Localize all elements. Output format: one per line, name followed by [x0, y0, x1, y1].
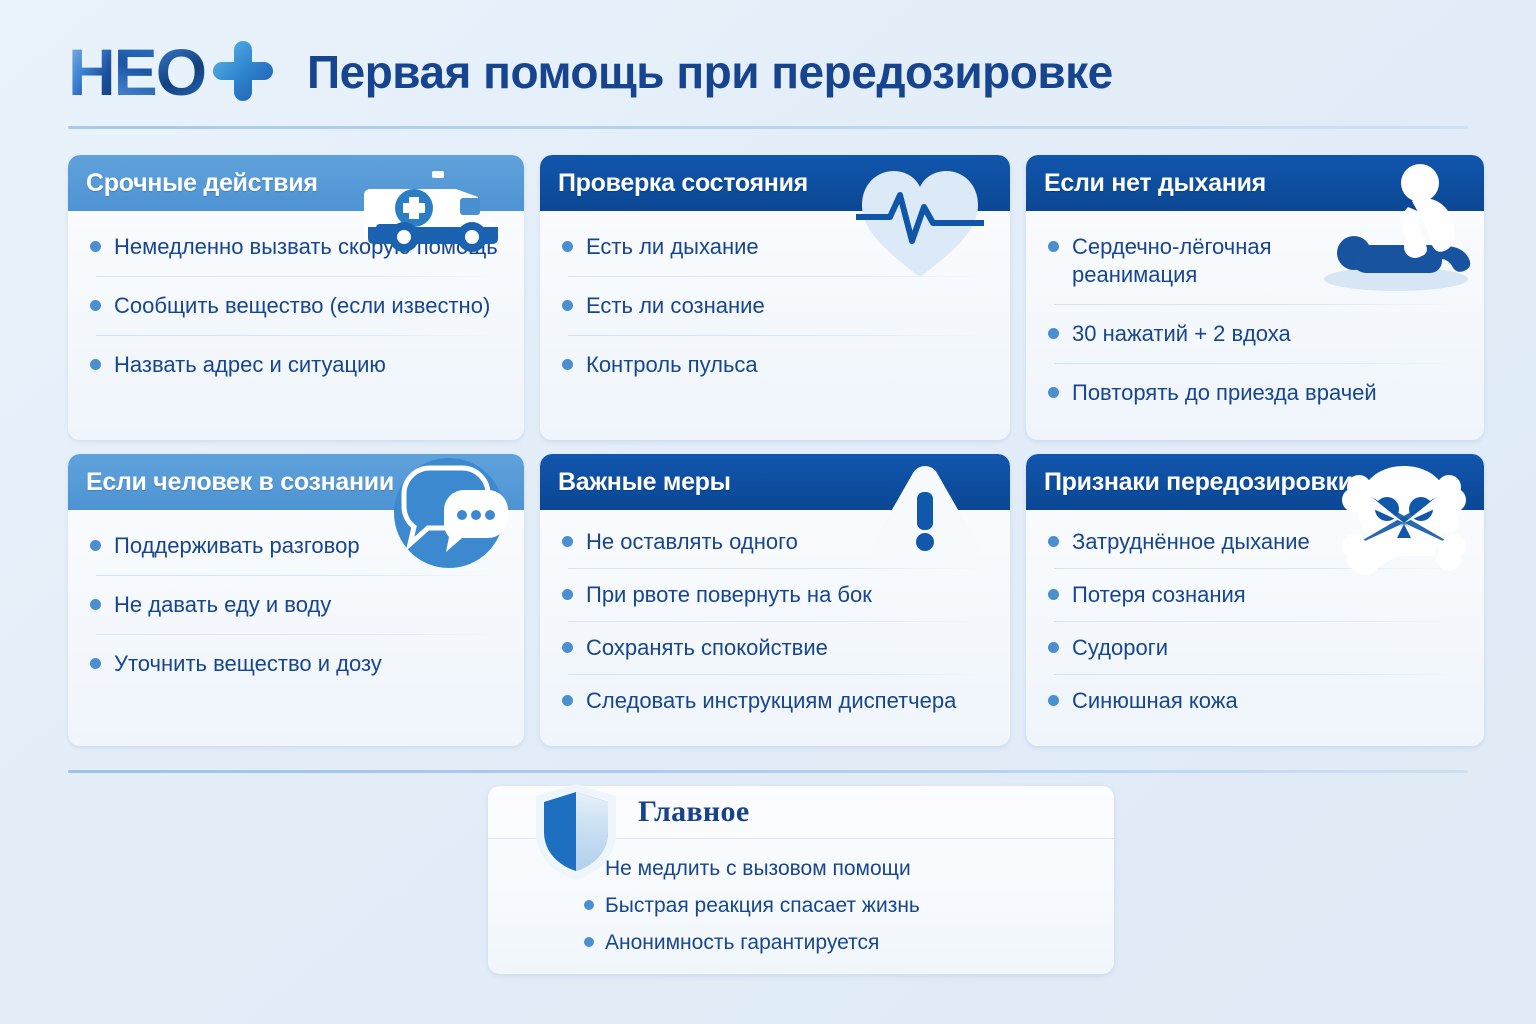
list-item[interactable]: Поддерживать разговор — [88, 532, 504, 576]
bullet-icon — [562, 642, 573, 653]
infographic-page: H E O Первая помощь при передозировке — [0, 0, 1536, 1024]
list-item[interactable]: Сообщить вещество (если известно) — [88, 277, 504, 336]
list-item[interactable]: Синюшная кожа — [1046, 675, 1464, 728]
summary-list-item[interactable]: Анонимность гарантируется — [584, 927, 1114, 959]
card-header: Проверка состояния — [540, 155, 1010, 211]
list-item-label: Контроль пульса — [586, 351, 758, 379]
summary-list-item[interactable]: Не медлить с вызовом помощи — [584, 853, 1114, 885]
summary-list-item-label: Не медлить с вызовом помощи — [605, 853, 911, 885]
bullet-icon — [90, 540, 101, 551]
list-item-label: Немедленно вызвать скорую помощь — [114, 233, 498, 261]
list-item[interactable]: Не давать еду и воду — [88, 576, 504, 635]
list-item-label: Есть ли сознание — [586, 292, 765, 320]
summary-list-item-label: Анонимность гарантируется — [605, 927, 879, 959]
bullet-icon — [90, 658, 101, 669]
bullet-icon — [90, 300, 101, 311]
list-item-label: Сообщить вещество (если известно) — [114, 292, 490, 320]
list-item-label: Не оставлять одного — [586, 528, 798, 556]
list-item[interactable]: Назвать адрес и ситуацию — [88, 336, 504, 395]
logo-letter-o: O — [156, 39, 205, 105]
list-item[interactable]: Сердечно-лёгочная реанимация — [1046, 233, 1464, 305]
card-important-measures[interactable]: Важные меры Не оставлять одного При рвот… — [540, 454, 1010, 746]
bullet-icon — [584, 900, 594, 910]
list-item[interactable]: Сохранять спокойствие — [560, 622, 990, 675]
card-body: Затруднённое дыхание Потеря сознания Суд… — [1026, 510, 1484, 738]
card-conscious-person[interactable]: Если человек в сознании Поддерживать раз… — [68, 454, 524, 746]
card-body: Есть ли дыхание Есть ли сознание Контрол… — [540, 211, 1010, 405]
logo-letter-h: H — [68, 39, 114, 105]
card-header: Признаки передозировки — [1026, 454, 1484, 510]
brand-logo: H E O — [68, 37, 273, 107]
bullet-icon — [562, 359, 573, 370]
list-item-label: Следовать инструкциям диспетчера — [586, 687, 956, 715]
card-header: Если нет дыхания — [1026, 155, 1484, 211]
card-condition-check[interactable]: Проверка состояния Есть ли дыхание Есть … — [540, 155, 1010, 440]
list-item-label: Потеря сознания — [1072, 581, 1246, 609]
card-urgent-actions[interactable]: Срочные действия Немедленно вызвать скор… — [68, 155, 524, 440]
list-item[interactable]: Следовать инструкциям диспетчера — [560, 675, 990, 728]
card-no-breathing[interactable]: Если нет дыхания Сердечно-лёгочная реани… — [1026, 155, 1484, 440]
summary-list-item[interactable]: Быстрая реакция спасает жизнь — [584, 890, 1114, 922]
list-item[interactable]: Судороги — [1046, 622, 1464, 675]
summary-panel[interactable]: Главное Не медлить с вызовом помощи Быст… — [488, 786, 1114, 974]
list-item[interactable]: Повторять до приезда врачей — [1046, 364, 1464, 423]
card-body: Сердечно-лёгочная реанимация 30 нажатий … — [1026, 211, 1484, 433]
bullet-icon — [584, 937, 594, 947]
bullet-icon — [562, 695, 573, 706]
card-overdose-signs[interactable]: Признаки передозировки Затруднённое дыха… — [1026, 454, 1484, 746]
logo-letter-e: E — [114, 39, 156, 105]
card-header: Если человек в сознании — [68, 454, 524, 510]
list-item-label: Затруднённое дыхание — [1072, 528, 1310, 556]
bullet-icon — [90, 241, 101, 252]
summary-title: Главное — [638, 795, 749, 829]
list-item[interactable]: Контроль пульса — [560, 336, 990, 395]
list-item[interactable]: При рвоте повернуть на бок — [560, 569, 990, 622]
card-title: Если нет дыхания — [1044, 169, 1266, 198]
bullet-icon — [1048, 387, 1059, 398]
bottom-divider — [68, 770, 1468, 773]
card-title: Проверка состояния — [558, 169, 808, 198]
list-item-label: Поддерживать разговор — [114, 532, 360, 560]
summary-list-item-label: Быстрая реакция спасает жизнь — [605, 890, 920, 922]
card-body: Поддерживать разговор Не давать еду и во… — [68, 510, 524, 704]
card-body: Не оставлять одного При рвоте повернуть … — [540, 510, 1010, 738]
list-item-label: 30 нажатий + 2 вдоха — [1072, 320, 1291, 348]
list-item-label: Есть ли дыхание — [586, 233, 759, 261]
list-item[interactable]: Затруднённое дыхание — [1046, 528, 1464, 569]
list-item-label: Не давать еду и воду — [114, 591, 331, 619]
bullet-icon — [1048, 695, 1059, 706]
card-title: Признаки передозировки — [1044, 468, 1353, 497]
plus-icon — [211, 41, 273, 103]
card-header: Важные меры — [540, 454, 1010, 510]
list-item-label: Сохранять спокойствие — [586, 634, 828, 662]
list-item-label: Назвать адрес и ситуацию — [114, 351, 386, 379]
bullet-icon — [562, 536, 573, 547]
list-item-label: Повторять до приезда врачей — [1072, 379, 1377, 407]
list-item-label: Уточнить вещество и дозу — [114, 650, 382, 678]
bullet-icon — [90, 359, 101, 370]
page-header: H E O Первая помощь при передозировке — [68, 26, 1468, 118]
card-title: Если человек в сознании — [86, 468, 394, 497]
card-title: Важные меры — [558, 468, 731, 497]
list-item-label: Судороги — [1072, 634, 1168, 662]
list-item[interactable]: Уточнить вещество и дозу — [88, 635, 504, 694]
list-item-label: Сердечно-лёгочная реанимация — [1072, 233, 1297, 289]
list-item[interactable]: Не оставлять одного — [560, 528, 990, 569]
bullet-icon — [562, 241, 573, 252]
card-body: Немедленно вызвать скорую помощь Сообщит… — [68, 211, 524, 405]
list-item[interactable]: Есть ли сознание — [560, 277, 990, 336]
list-item[interactable]: Немедленно вызвать скорую помощь — [88, 233, 504, 277]
bullet-icon — [1048, 241, 1059, 252]
list-item-label: Синюшная кожа — [1072, 687, 1238, 715]
page-title: Первая помощь при передозировке — [307, 45, 1113, 99]
list-item-label: При рвоте повернуть на бок — [586, 581, 872, 609]
bullet-icon — [562, 589, 573, 600]
bullet-icon — [1048, 536, 1059, 547]
bullet-icon — [90, 599, 101, 610]
bullet-icon — [562, 300, 573, 311]
bullet-icon — [1048, 642, 1059, 653]
list-item[interactable]: 30 нажатий + 2 вдоха — [1046, 305, 1464, 364]
card-grid: Срочные действия Немедленно вызвать скор… — [68, 155, 1468, 746]
header-divider — [68, 126, 1468, 129]
card-header: Срочные действия — [68, 155, 524, 211]
list-item[interactable]: Потеря сознания — [1046, 569, 1464, 622]
shield-icon — [532, 782, 620, 882]
bullet-icon — [1048, 328, 1059, 339]
card-title: Срочные действия — [86, 169, 318, 198]
list-item[interactable]: Есть ли дыхание — [560, 233, 990, 277]
bullet-icon — [1048, 589, 1059, 600]
